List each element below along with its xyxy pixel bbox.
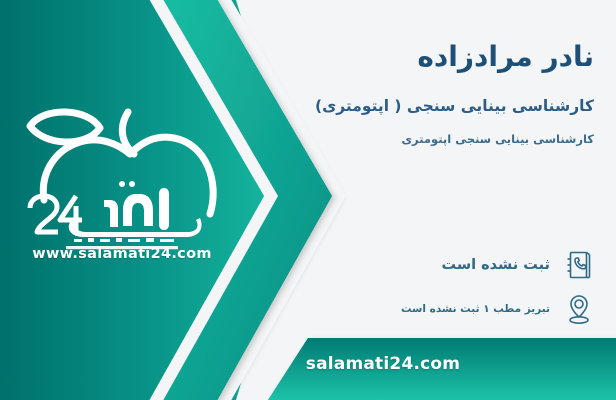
brand-script-mark — [69, 181, 202, 237]
phone-value: ثبت نشده است — [441, 257, 550, 273]
stem-icon — [122, 112, 134, 154]
profile-content: نادر مرادزاده کارشناسی بینایی سنجی ( اپت… — [234, 0, 594, 400]
page-title: نادر مرادزاده — [417, 40, 594, 74]
phone-row[interactable]: ثبت نشده است — [441, 248, 594, 282]
badge-24 — [30, 196, 82, 232]
location-pin-icon — [564, 292, 594, 326]
leaf-icon — [30, 112, 100, 142]
phone-book-icon — [564, 248, 594, 282]
address-value: تبریز مطب ۱ ثبت نشده است — [401, 303, 550, 315]
profile-specialty: کارشناسی بینایی سنجی ( اپتومتری) — [315, 96, 594, 116]
logo-url: www.salamati24.com — [14, 246, 230, 262]
footer-site-url[interactable]: salamati24.com — [0, 354, 616, 374]
business-card: www.salamati24.com نادر مرادزاده کارشناس… — [0, 0, 616, 400]
address-row[interactable]: تبریز مطب ۱ ثبت نشده است — [401, 292, 594, 326]
brand-logo: www.salamati24.com — [14, 96, 230, 282]
profile-specialty-secondary: کارشناسی بینایی سنجی اپتومتری — [402, 132, 594, 147]
